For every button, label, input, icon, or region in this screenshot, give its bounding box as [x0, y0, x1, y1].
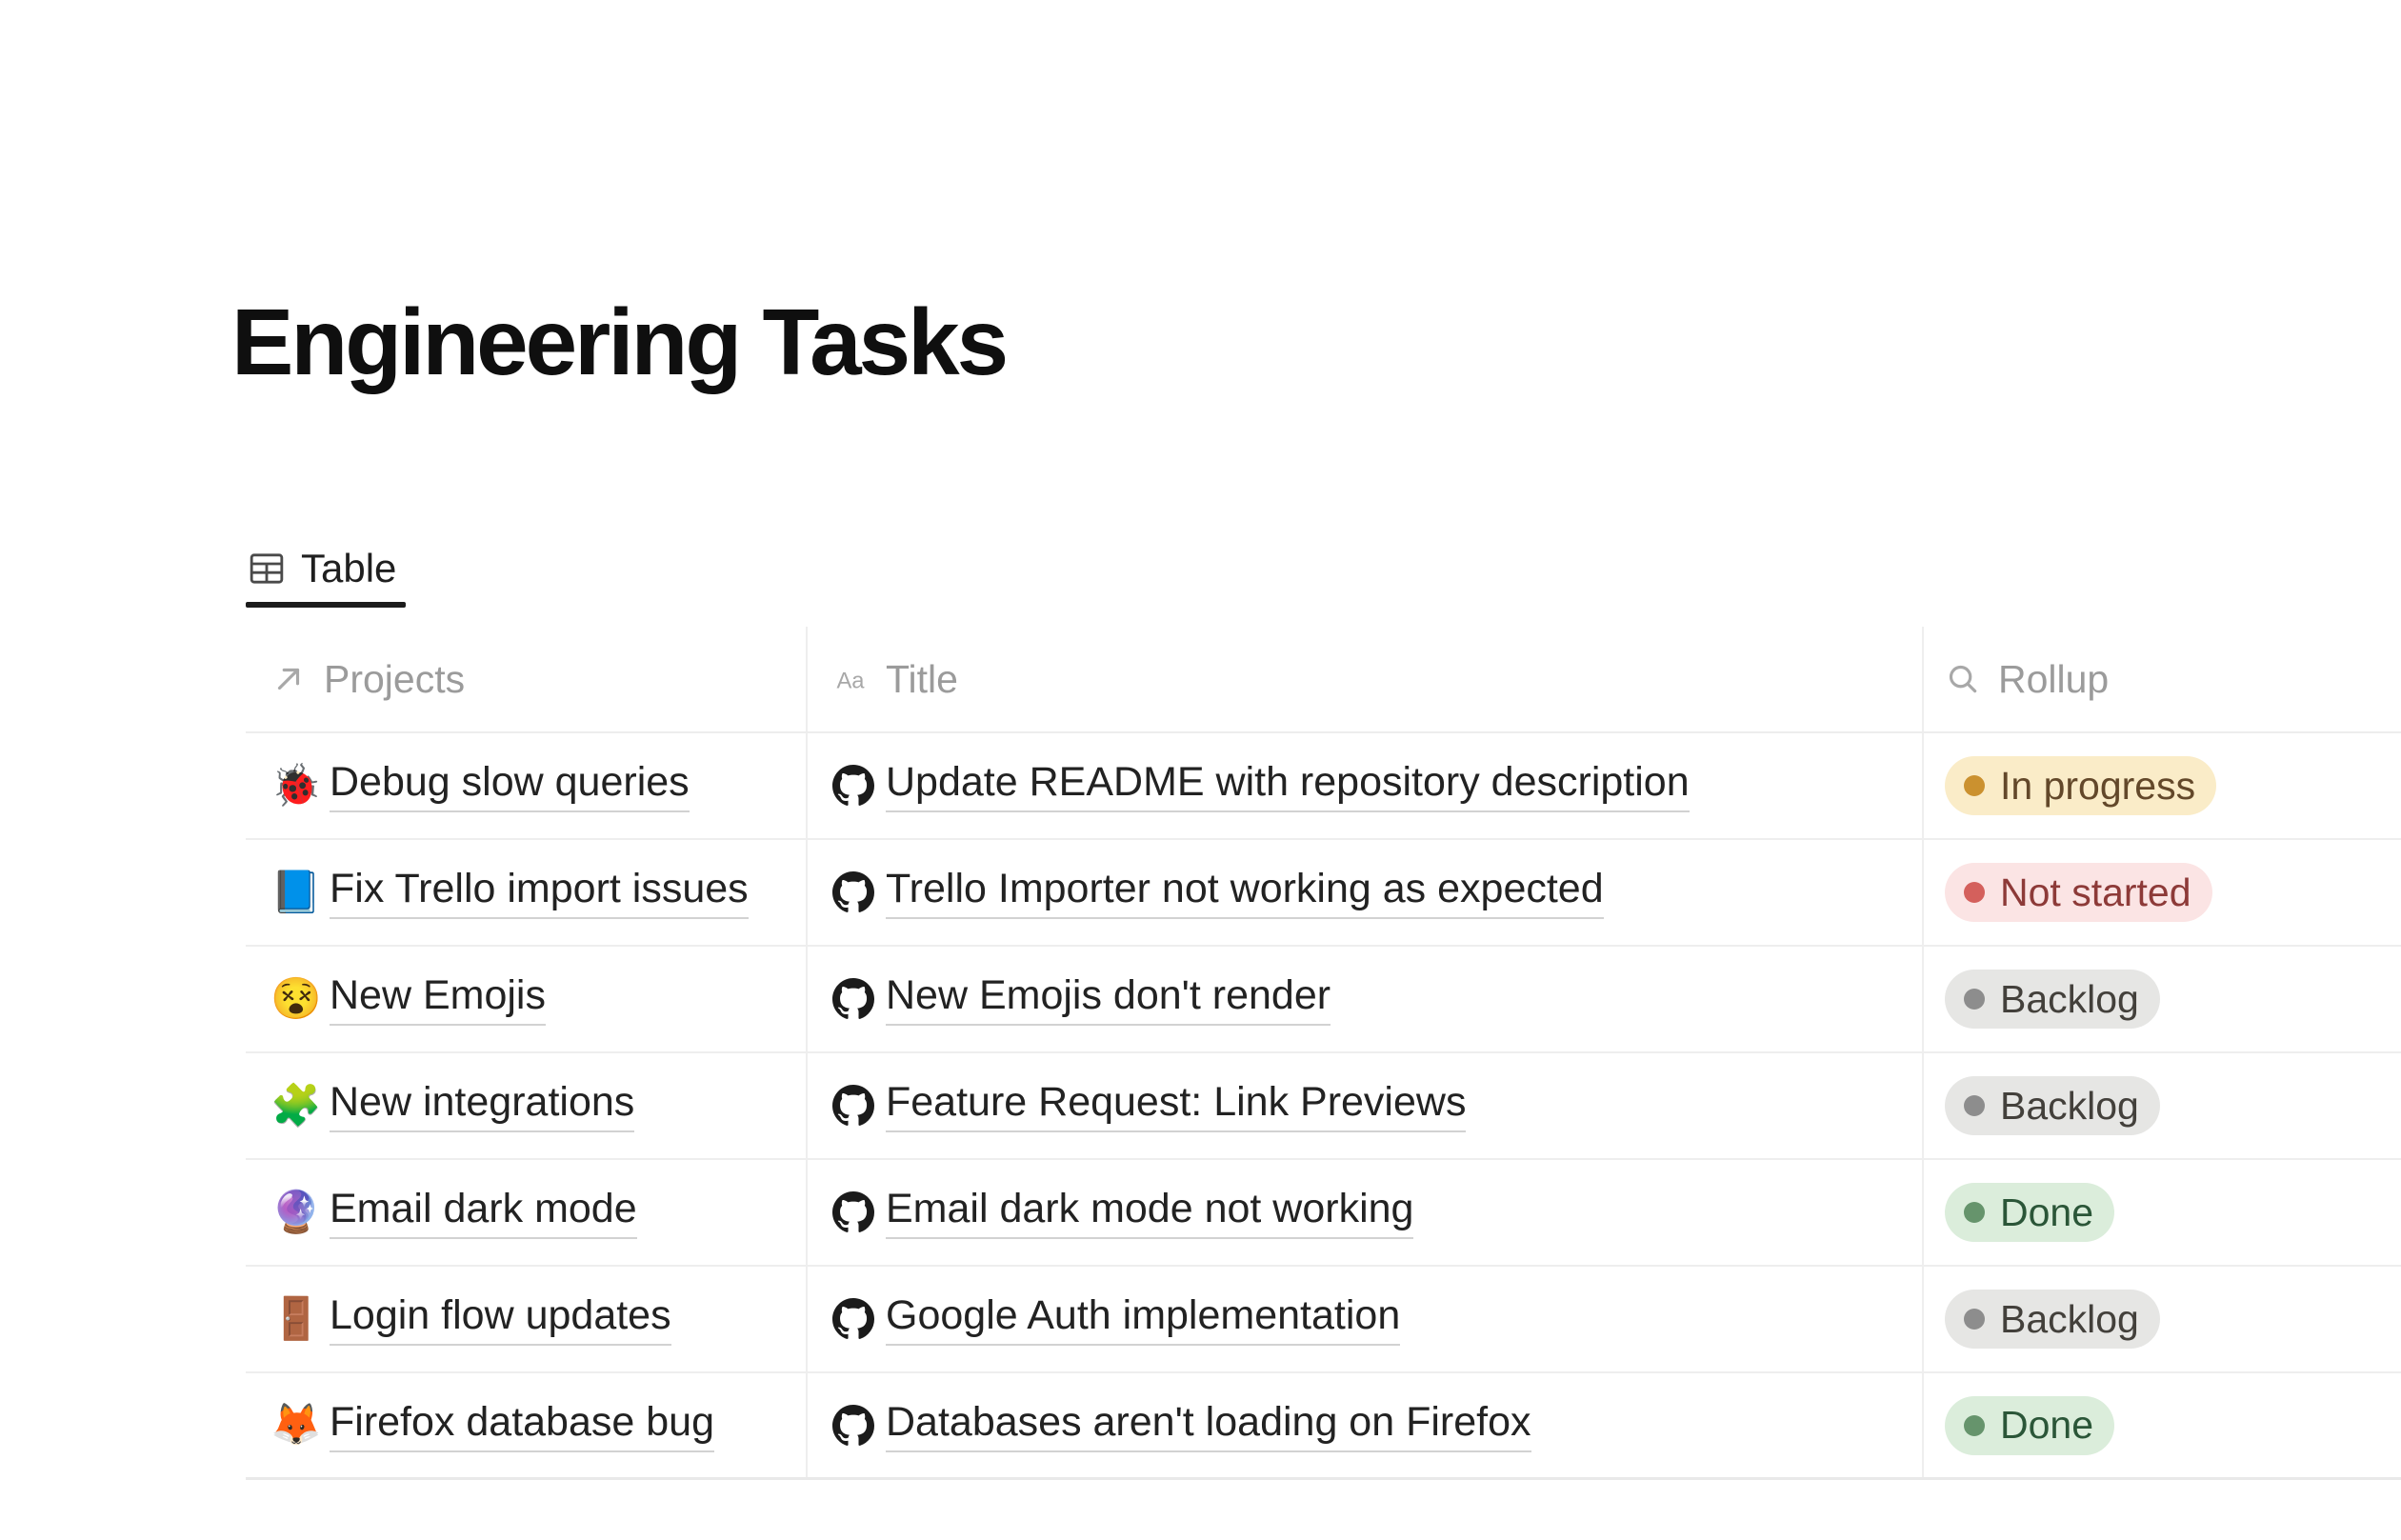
status-badge: Done — [1945, 1183, 2114, 1242]
page-title: Engineering Tasks — [231, 295, 1006, 389]
status-badge: Backlog — [1945, 970, 2160, 1029]
issue-title-link[interactable]: Google Auth implementation — [886, 1292, 1400, 1346]
project-link[interactable]: Login flow updates — [330, 1292, 671, 1346]
status-badge: In progress — [1945, 756, 2216, 815]
notion-database-page: Engineering Tasks Table — [0, 0, 2401, 1540]
cell-title[interactable]: New Emojis don't render — [808, 947, 1924, 1051]
github-icon — [832, 765, 874, 807]
status-dot-icon — [1964, 989, 1985, 1010]
status-badge: Backlog — [1945, 1290, 2160, 1349]
status-badge: Backlog — [1945, 1076, 2160, 1135]
project-link[interactable]: New Emojis — [330, 972, 546, 1026]
cell-projects[interactable]: 🚪 Login flow updates — [246, 1267, 808, 1371]
cell-title[interactable]: Databases aren't loading on Firefox — [808, 1373, 1924, 1477]
github-icon — [832, 1298, 874, 1340]
fox-emoji: 🦊 — [270, 1405, 318, 1446]
lady-beetle-emoji: 🐞 — [270, 766, 318, 807]
cell-rollup[interactable]: Not started — [1924, 840, 2401, 945]
status-dot-icon — [1964, 1309, 1985, 1330]
cell-title[interactable]: Email dark mode not working — [808, 1160, 1924, 1265]
column-header-title[interactable]: Aa Title — [808, 627, 1924, 731]
relation-arrow-icon — [270, 661, 307, 697]
issue-title-link[interactable]: Trello Importer not working as expected — [886, 866, 1604, 919]
github-icon — [832, 1085, 874, 1127]
table-grid-icon — [248, 550, 286, 588]
cell-rollup[interactable]: Backlog — [1924, 1267, 2401, 1371]
issue-title-link[interactable]: Feature Request: Link Previews — [886, 1079, 1466, 1132]
cell-projects[interactable]: 🦊 Firefox database bug — [246, 1373, 808, 1477]
table-row[interactable]: 📘 Fix Trello import issues Trello Import… — [246, 840, 2401, 947]
puzzle-piece-emoji: 🧩 — [270, 1086, 318, 1127]
project-link[interactable]: Firefox database bug — [330, 1399, 714, 1452]
issue-title-link[interactable]: Update README with repository descriptio… — [886, 759, 1690, 812]
table-row[interactable]: 🦊 Firefox database bug Databases aren't … — [246, 1373, 2401, 1480]
cell-projects[interactable]: 🐞 Debug slow queries — [246, 733, 808, 838]
dizzy-face-emoji: 😵 — [270, 979, 318, 1020]
column-header-rollup-label: Rollup — [1998, 657, 2109, 702]
status-badge: Done — [1945, 1396, 2114, 1455]
cell-title[interactable]: Trello Importer not working as expected — [808, 840, 1924, 945]
project-link[interactable]: Fix Trello import issues — [330, 866, 749, 919]
tab-table[interactable]: Table — [246, 530, 406, 608]
github-icon — [832, 1191, 874, 1233]
github-icon — [832, 978, 874, 1020]
table-row[interactable]: 🐞 Debug slow queries Update README with … — [246, 733, 2401, 840]
cell-rollup[interactable]: Done — [1924, 1373, 2401, 1477]
status-badge: Not started — [1945, 863, 2212, 922]
cell-rollup[interactable]: In progress — [1924, 733, 2401, 838]
database-table: Projects Aa Title — [246, 627, 2401, 1480]
cell-rollup[interactable]: Done — [1924, 1160, 2401, 1265]
status-badge-label: In progress — [2000, 764, 2195, 809]
project-link[interactable]: Debug slow queries — [330, 759, 690, 812]
crystal-ball-emoji: 🔮 — [270, 1192, 318, 1233]
status-badge-label: Done — [2000, 1190, 2093, 1235]
issue-title-link[interactable]: Databases aren't loading on Firefox — [886, 1399, 1531, 1452]
issue-title-link[interactable]: New Emojis don't render — [886, 972, 1331, 1026]
view-tab-strip: Table — [246, 530, 406, 625]
status-badge-label: Backlog — [2000, 1297, 2139, 1342]
cell-rollup[interactable]: Backlog — [1924, 1053, 2401, 1158]
status-dot-icon — [1964, 882, 1985, 903]
column-header-projects[interactable]: Projects — [246, 627, 808, 731]
project-link[interactable]: New integrations — [330, 1079, 634, 1132]
table-header-row: Projects Aa Title — [246, 627, 2401, 733]
tab-table-label: Table — [301, 546, 396, 591]
status-badge-label: Backlog — [2000, 1084, 2139, 1129]
status-dot-icon — [1964, 1202, 1985, 1223]
cell-title[interactable]: Feature Request: Link Previews — [808, 1053, 1924, 1158]
table-row[interactable]: 🚪 Login flow updates Google Auth impleme… — [246, 1267, 2401, 1373]
column-header-title-label: Title — [886, 657, 958, 702]
blue-book-emoji: 📘 — [270, 872, 318, 913]
column-header-projects-label: Projects — [324, 657, 465, 702]
status-dot-icon — [1964, 1415, 1985, 1436]
table-row[interactable]: 🔮 Email dark mode Email dark mode not wo… — [246, 1160, 2401, 1267]
door-emoji: 🚪 — [270, 1299, 318, 1340]
cell-title[interactable]: Update README with repository descriptio… — [808, 733, 1924, 838]
issue-title-link[interactable]: Email dark mode not working — [886, 1186, 1413, 1239]
cell-projects[interactable]: 🧩 New integrations — [246, 1053, 808, 1158]
status-dot-icon — [1964, 1095, 1985, 1116]
table-row[interactable]: 😵 New Emojis New Emojis don't render Bac… — [246, 947, 2401, 1053]
table-row[interactable]: 🧩 New integrations Feature Request: Link… — [246, 1053, 2401, 1160]
column-header-rollup[interactable]: Rollup — [1924, 627, 2401, 731]
title-aa-icon: Aa — [832, 661, 869, 697]
project-link[interactable]: Email dark mode — [330, 1186, 637, 1239]
cell-title[interactable]: Google Auth implementation — [808, 1267, 1924, 1371]
cell-projects[interactable]: 📘 Fix Trello import issues — [246, 840, 808, 945]
github-icon — [832, 871, 874, 913]
svg-text:Aa: Aa — [836, 669, 865, 694]
cell-rollup[interactable]: Backlog — [1924, 947, 2401, 1051]
cell-projects[interactable]: 😵 New Emojis — [246, 947, 808, 1051]
status-dot-icon — [1964, 775, 1985, 796]
github-icon — [832, 1405, 874, 1447]
status-badge-label: Backlog — [2000, 977, 2139, 1022]
status-badge-label: Not started — [2000, 870, 2191, 915]
status-badge-label: Done — [2000, 1403, 2093, 1448]
cell-projects[interactable]: 🔮 Email dark mode — [246, 1160, 808, 1265]
rollup-search-icon — [1945, 661, 1981, 697]
